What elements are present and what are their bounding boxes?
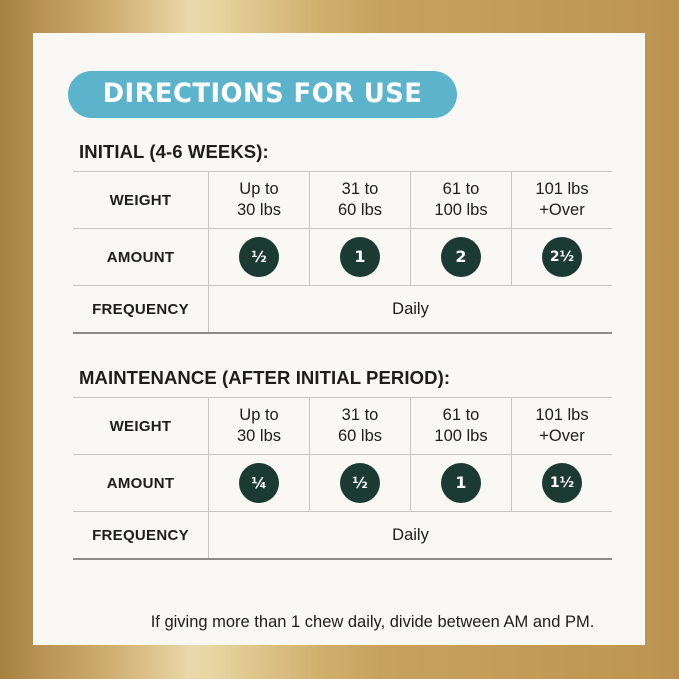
row-label-weight: WEIGHT — [73, 398, 209, 455]
amount-cell: 1 — [411, 455, 512, 512]
dose-chip: 1 — [340, 237, 380, 277]
weight-cell: Up to 30 lbs — [209, 398, 310, 455]
weight-range-line2: 100 lbs — [411, 200, 511, 221]
weight-range-line1: 61 to — [411, 405, 511, 426]
row-label-weight: WEIGHT — [73, 172, 209, 229]
row-label-frequency: FREQUENCY — [73, 286, 209, 334]
initial-dosage-table: WEIGHT Up to 30 lbs 31 to 60 lbs — [73, 171, 612, 334]
weight-range-line2: +Over — [512, 200, 612, 221]
weight-range: Up to 30 lbs — [209, 179, 309, 220]
table-row: FREQUENCY Daily — [73, 286, 612, 334]
weight-range: 61 to 100 lbs — [411, 405, 511, 446]
table-row: FREQUENCY Daily — [73, 512, 612, 560]
table-row: AMOUNT ¼ ½ 1 1½ — [73, 455, 612, 512]
dose-chip: 2 — [441, 237, 481, 277]
section-initial: INITIAL (4-6 WEEKS): WEIGHT Up to 30 lbs — [73, 141, 608, 334]
weight-range-line2: 30 lbs — [209, 200, 309, 221]
directions-title-badge: DIRECTIONS FOR USE — [68, 71, 457, 118]
amount-cell: 1 — [310, 229, 411, 286]
section-maintenance: MAINTENANCE (AFTER INITIAL PERIOD): WEIG… — [73, 367, 608, 560]
amount-cell: ¼ — [209, 455, 310, 512]
row-label-amount: AMOUNT — [73, 455, 209, 512]
dose-chip: ½ — [239, 237, 279, 277]
weight-range-line2: 30 lbs — [209, 426, 309, 447]
weight-range-line1: 31 to — [310, 405, 410, 426]
frequency-value: Daily — [209, 286, 613, 334]
dose-chip: 1 — [441, 463, 481, 503]
section-maintenance-heading: MAINTENANCE (AFTER INITIAL PERIOD): — [79, 367, 608, 389]
table-row: WEIGHT Up to 30 lbs 31 to 60 lbs — [73, 398, 612, 455]
footnote-text: If giving more than 1 chew daily, divide… — [33, 613, 679, 632]
weight-range-line2: 60 lbs — [310, 200, 410, 221]
maintenance-dosage-table: WEIGHT Up to 30 lbs 31 to 60 lbs — [73, 397, 612, 560]
weight-range-line1: Up to — [209, 179, 309, 200]
row-label-amount: AMOUNT — [73, 229, 209, 286]
instruction-card: DIRECTIONS FOR USE INITIAL (4-6 WEEKS): … — [33, 33, 645, 645]
weight-cell: 101 lbs +Over — [512, 172, 613, 229]
section-initial-heading: INITIAL (4-6 WEEKS): — [79, 141, 608, 163]
directions-title-label: DIRECTIONS FOR USE — [103, 80, 423, 109]
weight-cell: Up to 30 lbs — [209, 172, 310, 229]
weight-range: Up to 30 lbs — [209, 405, 309, 446]
weight-range: 101 lbs +Over — [512, 405, 612, 446]
table-row: AMOUNT ½ 1 2 2½ — [73, 229, 612, 286]
row-label-frequency: FREQUENCY — [73, 512, 209, 560]
dose-chip: ¼ — [239, 463, 279, 503]
dose-chip: 1½ — [542, 463, 582, 503]
weight-range-line1: 31 to — [310, 179, 410, 200]
weight-cell: 101 lbs +Over — [512, 398, 613, 455]
frequency-value: Daily — [209, 512, 613, 560]
weight-range-line1: 61 to — [411, 179, 511, 200]
weight-cell: 31 to 60 lbs — [310, 398, 411, 455]
amount-cell: 1½ — [512, 455, 613, 512]
weight-range-line1: Up to — [209, 405, 309, 426]
amount-cell: 2½ — [512, 229, 613, 286]
dose-chip: 2½ — [542, 237, 582, 277]
weight-range: 61 to 100 lbs — [411, 179, 511, 220]
weight-range-line2: 60 lbs — [310, 426, 410, 447]
weight-range: 31 to 60 lbs — [310, 405, 410, 446]
weight-range: 101 lbs +Over — [512, 179, 612, 220]
dose-chip: ½ — [340, 463, 380, 503]
weight-range: 31 to 60 lbs — [310, 179, 410, 220]
weight-cell: 61 to 100 lbs — [411, 172, 512, 229]
gold-border-frame: DIRECTIONS FOR USE INITIAL (4-6 WEEKS): … — [0, 0, 679, 679]
table-row: WEIGHT Up to 30 lbs 31 to 60 lbs — [73, 172, 612, 229]
weight-range-line2: +Over — [512, 426, 612, 447]
amount-cell: ½ — [209, 229, 310, 286]
weight-cell: 31 to 60 lbs — [310, 172, 411, 229]
weight-range-line2: 100 lbs — [411, 426, 511, 447]
amount-cell: 2 — [411, 229, 512, 286]
weight-cell: 61 to 100 lbs — [411, 398, 512, 455]
weight-range-line1: 101 lbs — [512, 179, 612, 200]
weight-range-line1: 101 lbs — [512, 405, 612, 426]
amount-cell: ½ — [310, 455, 411, 512]
